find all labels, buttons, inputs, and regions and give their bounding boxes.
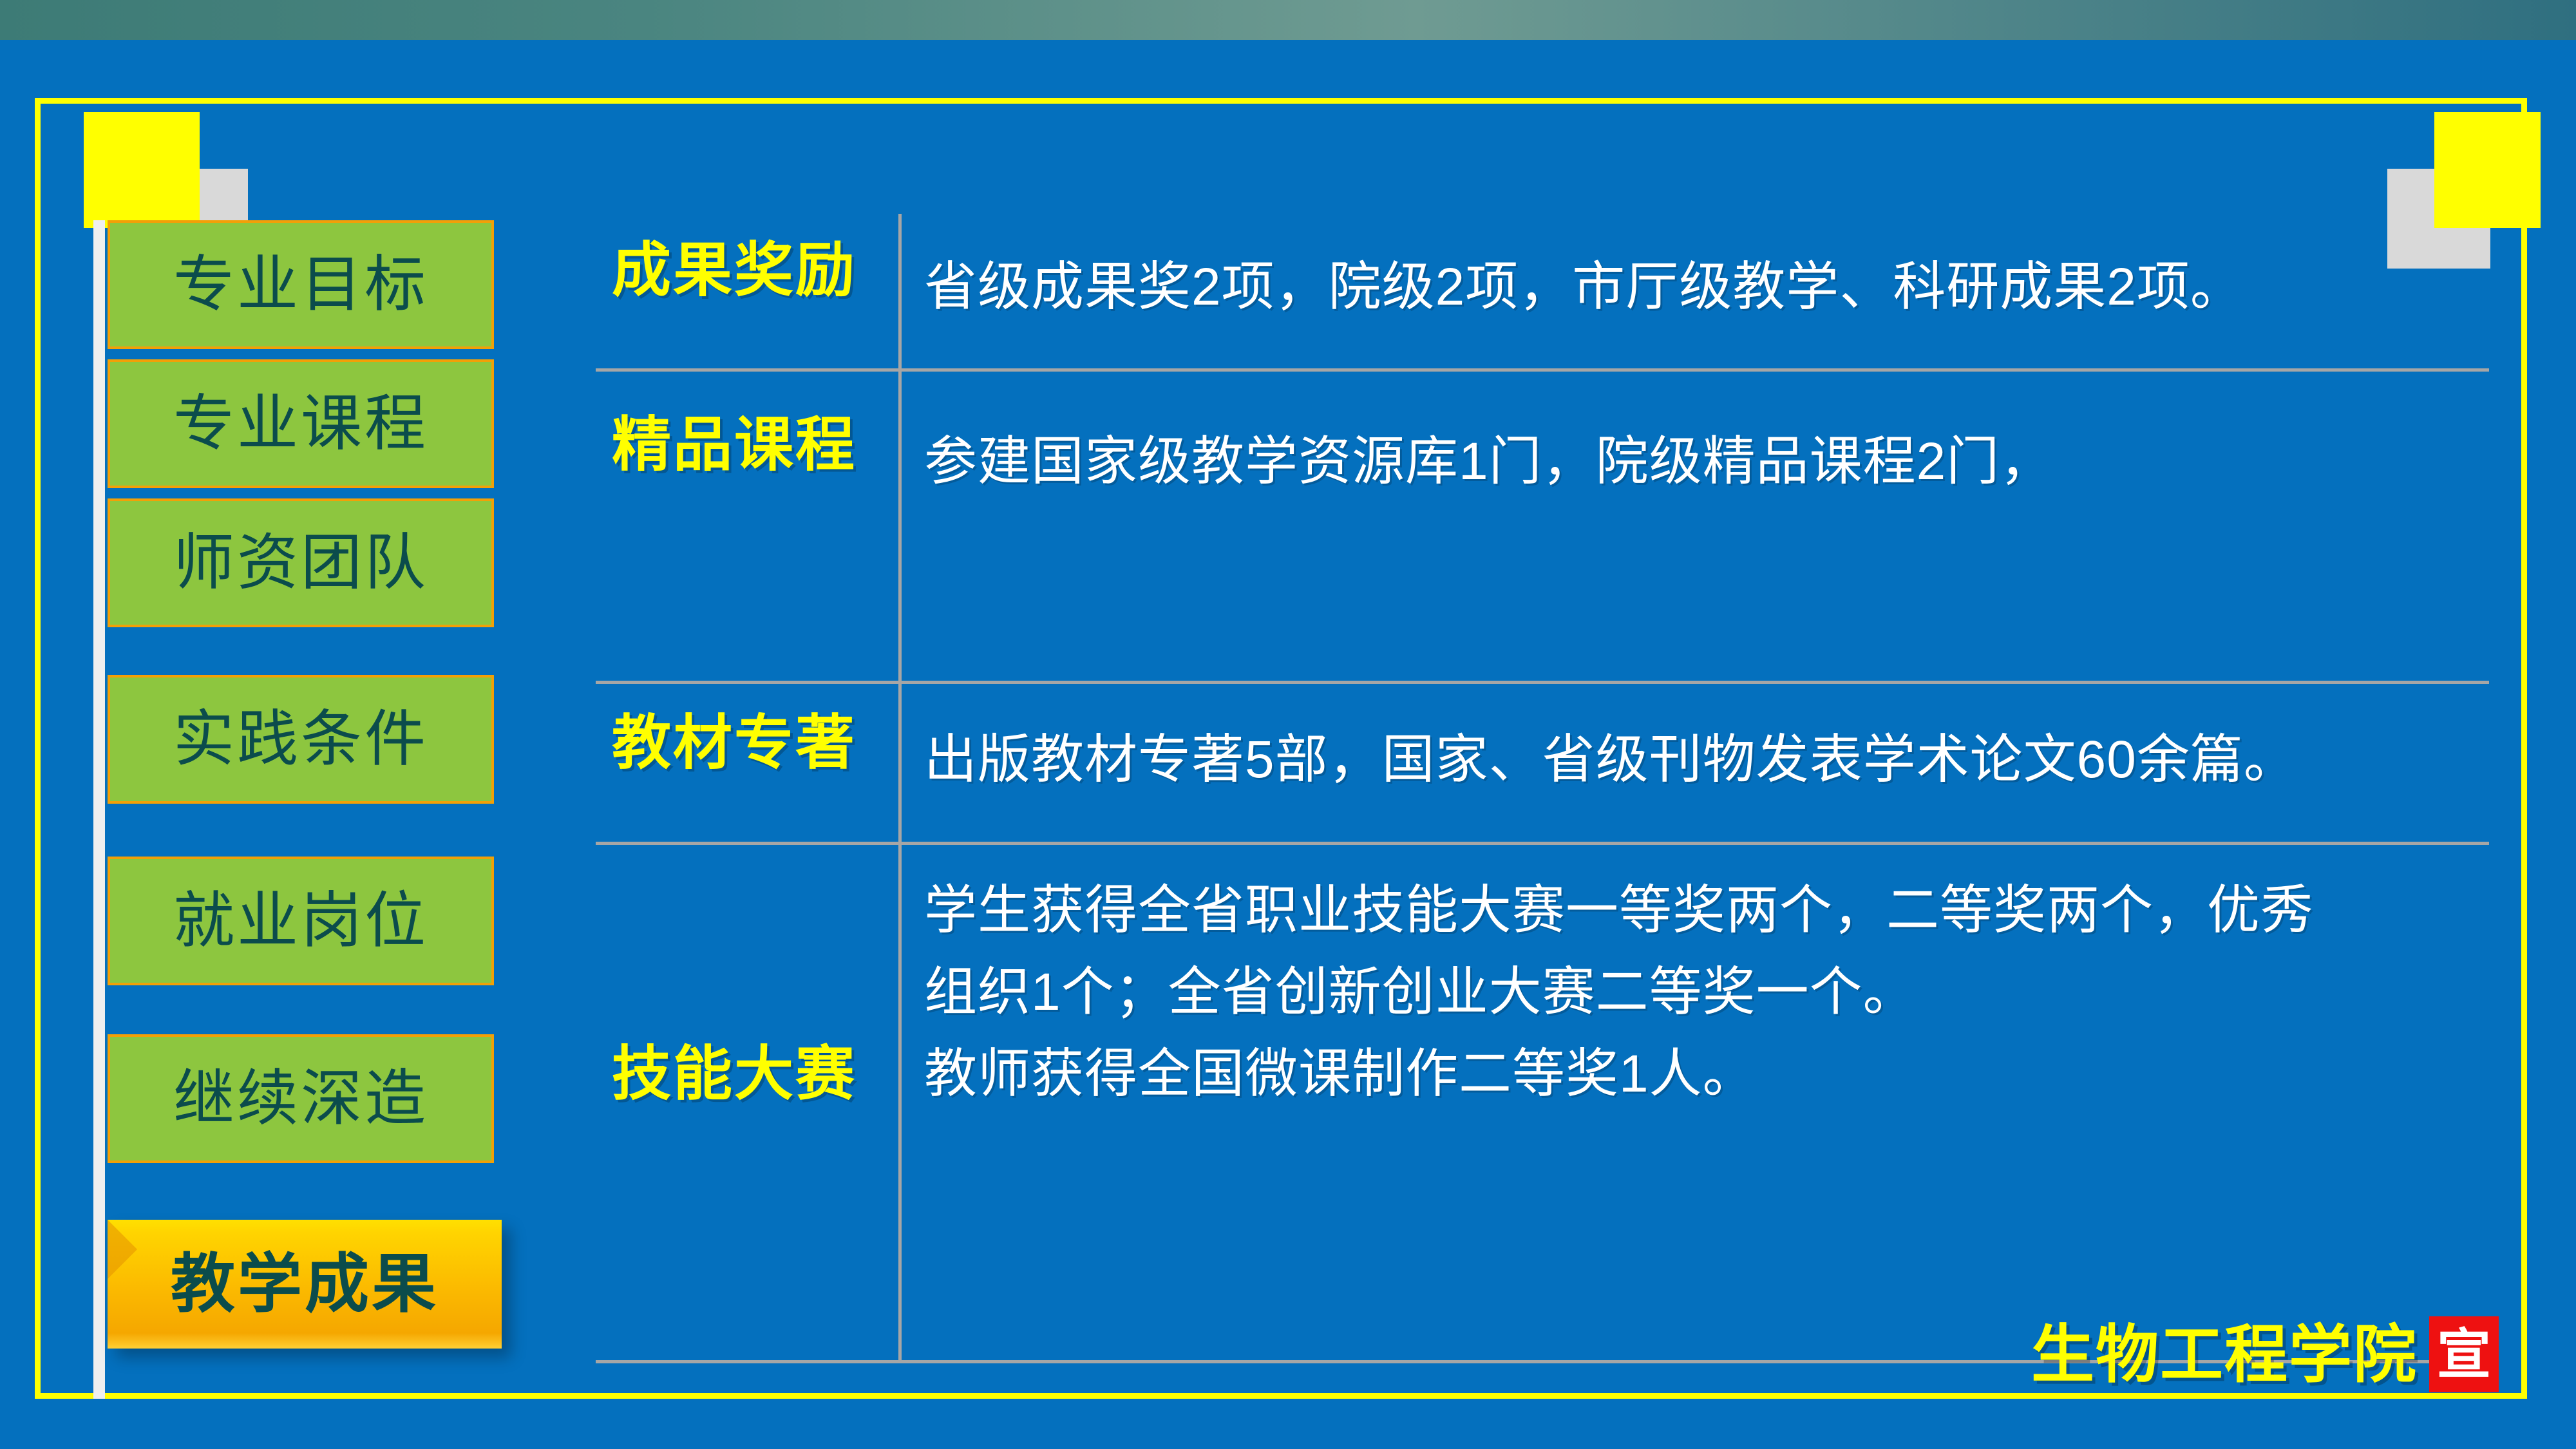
row-text-achievement-award: 省级成果奖2项，院级2项，市厅级教学、科研成果2项。: [924, 246, 2483, 328]
sidebar-item-label: 实践条件: [173, 709, 428, 770]
top-gradient-strip: [0, 0, 2576, 40]
row-text-textbook-monograph: 出版教材专著5部，国家、省级刊物发表学术论文60余篇。: [924, 719, 2483, 800]
sidebar-item-label: 专业课程: [173, 393, 428, 455]
row-line: 学生获得全省职业技能大赛一等奖两个，二等奖两个，优秀: [924, 869, 2483, 951]
row-text-quality-course: 参建国家级教学资源库1门，院级精品课程2门，: [924, 421, 2483, 502]
row-text-skills-competition: 学生获得全省职业技能大赛一等奖两个，二等奖两个，优秀 组织1个；全省创新创业大赛…: [924, 869, 2483, 1115]
sidebar-nav: 专业目标 专业课程 师资团队 实践条件 就业岗位 继续深造 教学成果: [93, 220, 499, 1399]
top-right-yellow-square: [2434, 112, 2541, 228]
seal-stamp-icon: 宣: [2429, 1316, 2499, 1392]
sidebar-item-teaching-results[interactable]: 教学成果: [108, 1220, 502, 1349]
sidebar-item-label: 专业目标: [173, 254, 428, 316]
footer-organization-name: 生物工程学院: [2031, 1323, 2418, 1386]
sidebar-item-practice[interactable]: 实践条件: [108, 675, 494, 804]
sidebar-item-label: 继续深造: [173, 1068, 428, 1130]
results-table: 成果奖励 省级成果奖2项，院级2项，市厅级教学、科研成果2项。 精品课程 参建国…: [583, 214, 2489, 1367]
sidebar-item-employment[interactable]: 就业岗位: [108, 857, 494, 985]
sidebar-item-label: 就业岗位: [173, 891, 428, 952]
row-label-textbook-monograph: 教材专著: [583, 714, 885, 773]
row-line: 省级成果奖2项，院级2项，市厅级教学、科研成果2项。: [924, 246, 2483, 328]
row-line: 教师获得全国微课制作二等奖1人。: [924, 1033, 2483, 1115]
row-line: 参建国家级教学资源库1门，院级精品课程2门，: [924, 421, 2483, 502]
table-row: 精品课程 参建国家级教学资源库1门，院级精品课程2门，: [583, 372, 2489, 687]
row-label-achievement-award: 成果奖励: [583, 241, 885, 300]
sidebar-item-faculty-team[interactable]: 师资团队: [108, 498, 494, 627]
sidebar-item-major-courses[interactable]: 专业课程: [108, 359, 494, 488]
sidebar-item-further-study[interactable]: 继续深造: [108, 1034, 494, 1163]
table-row: 教材专著 出版教材专著5部，国家、省级刊物发表学术论文60余篇。: [583, 684, 2489, 845]
footer: 生物工程学院 宣: [2031, 1316, 2499, 1392]
sidebar-rail: [93, 220, 105, 1399]
sidebar-item-label: 教学成果: [171, 1252, 439, 1316]
row-label-skills-competition: 技能大赛: [583, 1045, 885, 1104]
slide-canvas: 专业目标 专业课程 师资团队 实践条件 就业岗位 继续深造 教学成果 成果奖励 …: [0, 40, 2576, 1449]
table-row: 成果奖励 省级成果奖2项，院级2项，市厅级教学、科研成果2项。: [583, 214, 2489, 368]
table-row: 技能大赛 学生获得全省职业技能大赛一等奖两个，二等奖两个，优秀 组织1个；全省创…: [583, 845, 2489, 1360]
row-line: 出版教材专著5部，国家、省级刊物发表学术论文60余篇。: [924, 719, 2483, 800]
sidebar-item-major-goal[interactable]: 专业目标: [108, 220, 494, 349]
sidebar-item-label: 师资团队: [173, 533, 428, 594]
top-left-yellow-square: [84, 112, 200, 228]
row-label-quality-course: 精品课程: [583, 415, 885, 475]
row-line: 组织1个；全省创新创业大赛二等奖一个。: [924, 951, 2483, 1033]
